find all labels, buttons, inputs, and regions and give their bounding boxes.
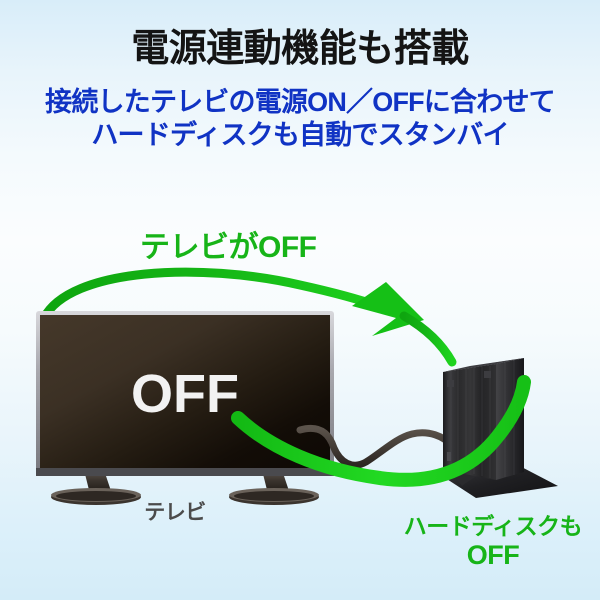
hdd-off-callout-line-1: ハードディスクも — [404, 513, 582, 539]
hdd-corner-detail-right — [484, 371, 491, 378]
television-graphic: OFF — [36, 311, 334, 505]
hdd-off-callout: ハードディスクも OFF — [398, 512, 588, 570]
tv-screen-status-text: OFF — [131, 364, 239, 424]
tv-off-callout: テレビがOFF — [140, 222, 317, 266]
hdd-indicator — [447, 452, 451, 461]
hdd-corner-detail-left — [447, 380, 454, 387]
hdd-off-callout-line-2: OFF — [398, 540, 588, 570]
promo-banner: 電源連動機能も搭載 接続したテレビの電源ON／OFFに合わせて ハードディスクも… — [0, 0, 600, 600]
tv-caption-label: テレビ — [120, 496, 230, 526]
illustration-scene: OFF — [0, 0, 600, 600]
